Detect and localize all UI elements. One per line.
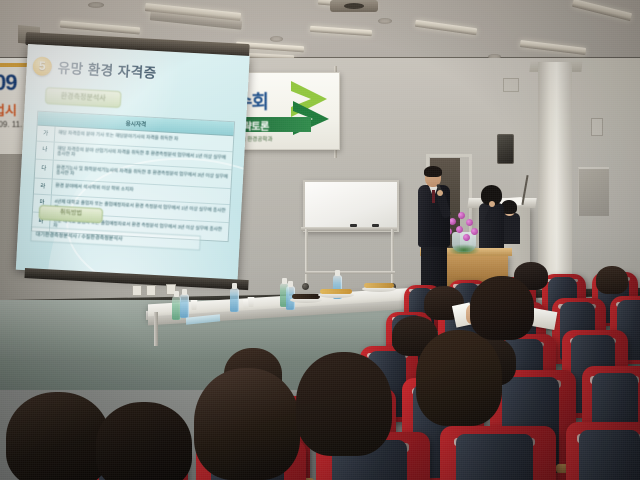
auditorium-seat	[440, 426, 556, 480]
table-row-key: 다	[35, 160, 54, 179]
slide-eligibility-table: 응시자격 가 해당 자격증의 분야 기사 또는 해당분야기사의 자격을 취득한 …	[31, 111, 235, 243]
seat-pad	[456, 434, 533, 480]
orchid-bloom	[458, 212, 465, 219]
orchid-bloom	[463, 234, 470, 241]
auditorium-seat	[566, 422, 640, 480]
wall-vent	[503, 78, 519, 92]
table-row-key: 가	[37, 126, 56, 141]
ceiling-vent	[270, 36, 283, 42]
presenter-hair	[424, 166, 442, 177]
student-hair	[596, 266, 628, 294]
foreground-student	[416, 330, 502, 426]
student-hair	[296, 352, 392, 456]
foreground-student	[296, 352, 392, 456]
ceiling-vent	[88, 2, 104, 8]
whiteboard-marker	[372, 224, 379, 227]
ceiling-vent	[378, 18, 392, 24]
whiteboard-marker	[350, 224, 357, 227]
wall-mounted-speaker	[497, 134, 514, 164]
wall-recess	[578, 167, 609, 216]
slide-header: 5 유망 환경 자격증	[32, 52, 245, 89]
orchid-bloom	[471, 228, 478, 235]
poster-korean-text: 업시	[0, 100, 17, 119]
slide-number-badge: 5	[32, 56, 52, 76]
presenter-tie	[432, 190, 435, 203]
foreground-student	[96, 402, 192, 480]
moderator-hand	[489, 201, 495, 207]
foreground-student	[6, 392, 110, 480]
student-hair	[194, 368, 300, 480]
student-hair	[6, 392, 110, 480]
slide-pill-top: 환경측정분석사	[45, 87, 122, 108]
projection-screen: 5 유망 환경 자격증 환경측정분석사 응시자격 가 해당 자격증의 분야 기사…	[16, 44, 250, 282]
ceiling-projector	[330, 0, 378, 12]
table-row-key: 라	[34, 179, 53, 194]
slide-title: 유망 환경 자격증	[57, 57, 157, 82]
presenter-hand	[437, 190, 443, 196]
poster-date-text: 009. 11.	[0, 120, 22, 129]
poster-accent-bar	[0, 63, 30, 67]
notebook	[531, 308, 558, 330]
table-row-key: 나	[36, 141, 55, 160]
whiteboard-marker-tray	[301, 227, 397, 231]
projected-slide: 5 유망 환경 자격증 환경측정분석사 응시자격 가 해당 자격증의 분야 기사…	[16, 44, 250, 282]
student-hair	[96, 402, 192, 480]
poster-year-text: 09	[0, 70, 16, 96]
foreground-student	[470, 276, 534, 340]
lecture-hall-photo: 09 업시 009. 11. 수회 전략토론 ○○대 환경공학과 5 유망 환경…	[0, 0, 640, 480]
foreground-student	[194, 368, 300, 480]
student-hair	[416, 330, 502, 426]
wall-control-box	[591, 118, 603, 136]
orchid-bloom	[466, 219, 473, 226]
orchid-bloom	[456, 226, 463, 233]
student-hair	[470, 276, 534, 340]
student-head	[596, 266, 628, 294]
seat-pad	[579, 430, 640, 480]
